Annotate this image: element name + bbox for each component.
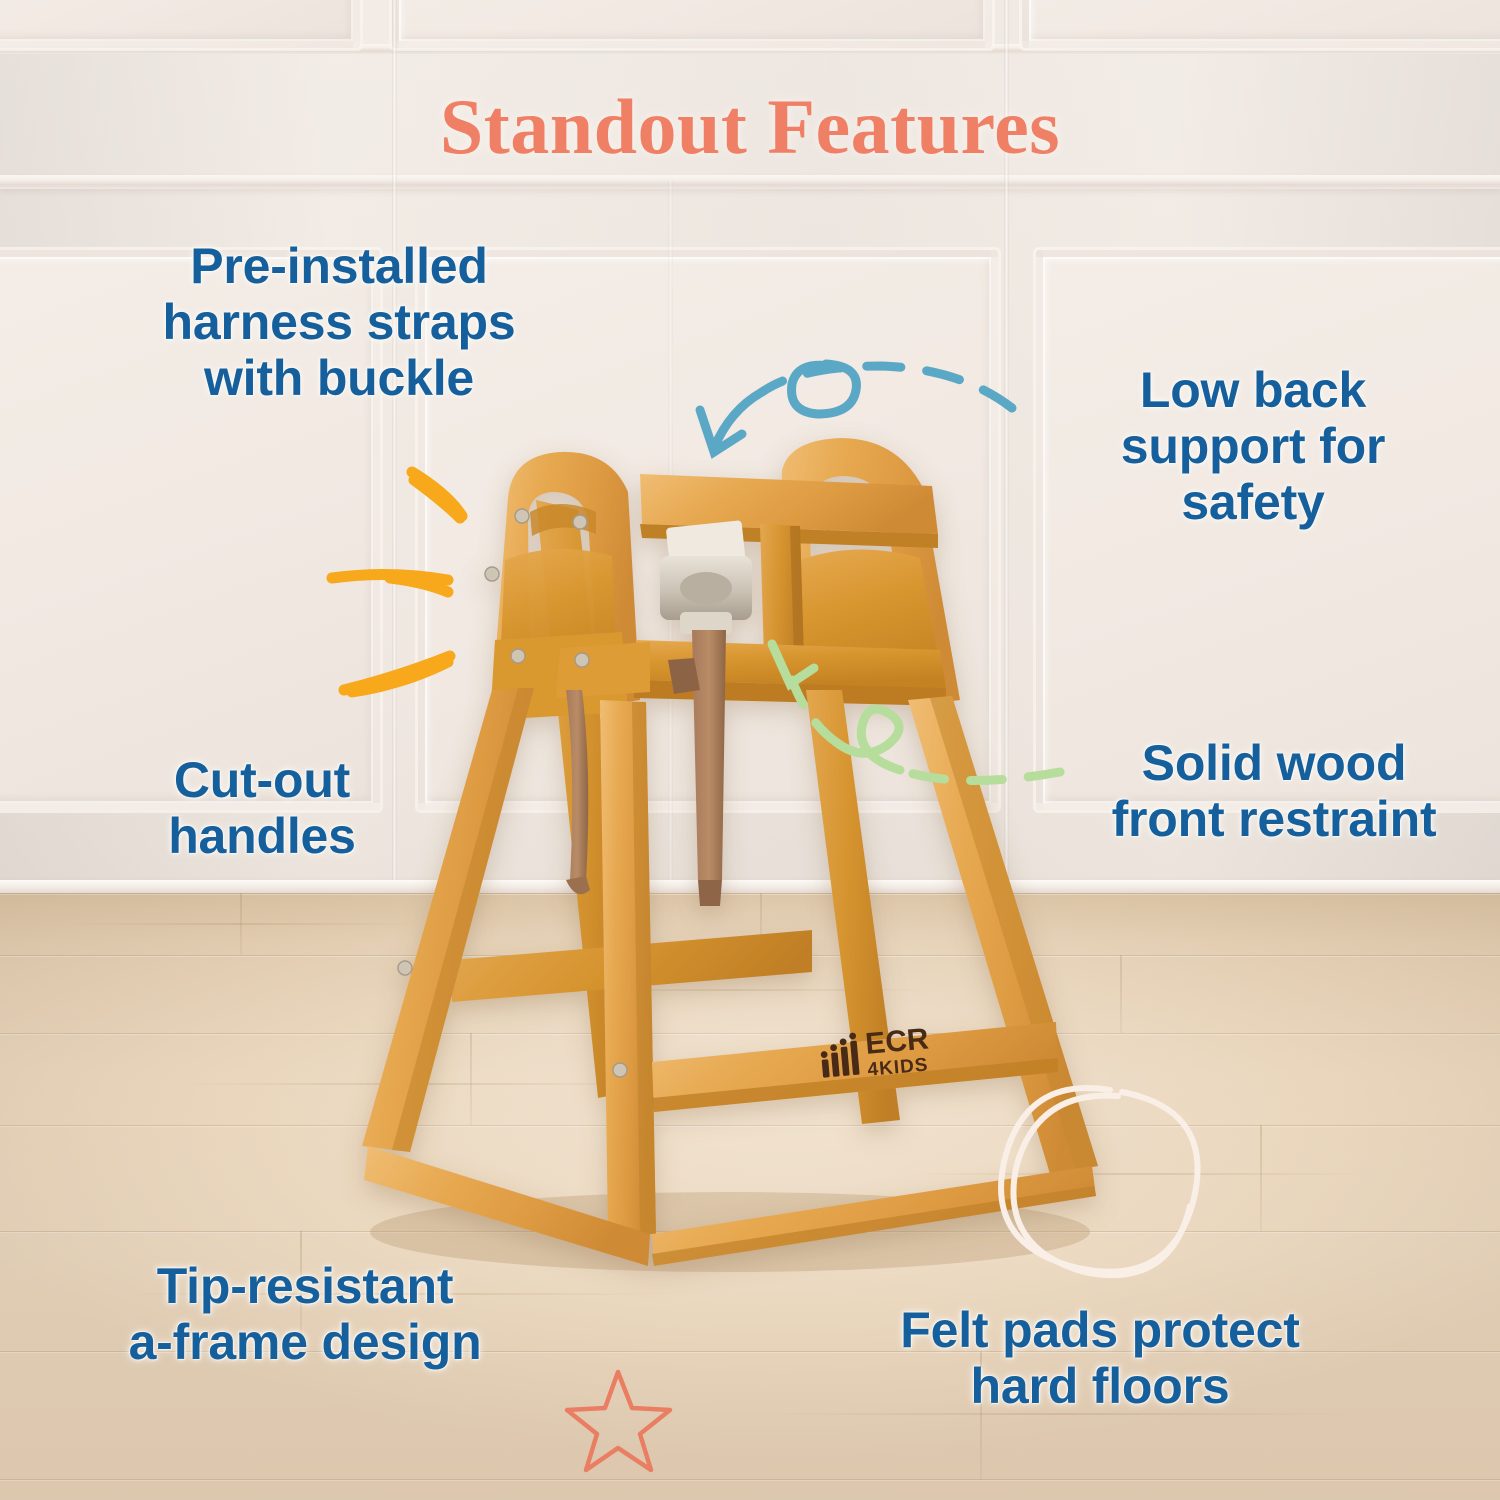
- chair-seat-left-wing: [556, 642, 650, 698]
- feature-label-front-restraint-line1: Solid wood front restraint: [1055, 735, 1493, 847]
- feature-label-low-back-line1: Low back support for safety: [1018, 362, 1488, 530]
- infographic-canvas: ECR 4KIDS: [0, 0, 1500, 1500]
- harness-strap-center-tip: [698, 880, 722, 906]
- feature-label-tip-resistant: Tip-resistant a-frame design: [60, 1258, 550, 1370]
- feature-label-cut-out-line1: Cut-out handles: [92, 752, 432, 864]
- chair-body: ECR 4KIDS: [362, 438, 1098, 1266]
- page-title: Standout Features: [0, 82, 1500, 172]
- feature-label-harness: Pre-installed harness straps with buckle: [100, 238, 578, 406]
- feature-label-front-restraint: Solid wood front restraint: [1055, 735, 1493, 847]
- feature-label-low-back: Low back support for safety: [1018, 362, 1488, 530]
- feature-label-tip-resistant-line1: Tip-resistant a-frame design: [60, 1258, 550, 1370]
- feature-label-felt-pads-line1: Felt pads protect hard floors: [830, 1302, 1370, 1414]
- feature-label-cut-out-handles: Cut-out handles: [92, 752, 432, 864]
- harness-strap-center: [692, 630, 726, 880]
- feature-label-felt-pads: Felt pads protect hard floors: [830, 1302, 1370, 1414]
- feature-label-harness-line1: Pre-installed harness straps with buckle: [100, 238, 578, 406]
- ecr-4kids-logo: ECR 4KIDS: [819, 1022, 932, 1084]
- harness-buckle: [660, 556, 752, 634]
- harness-strap-left-tip: [566, 876, 590, 894]
